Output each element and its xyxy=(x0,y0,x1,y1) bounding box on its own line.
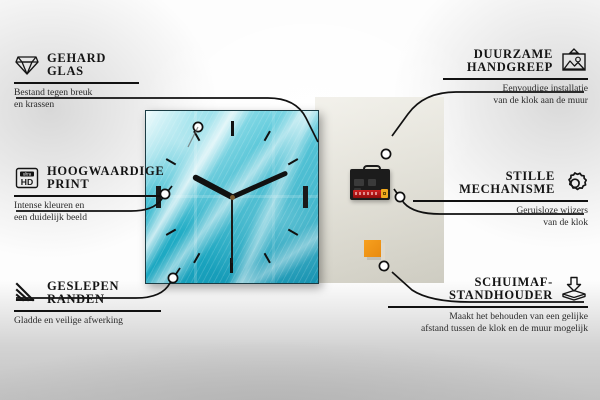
feature-divider xyxy=(443,78,588,80)
feature-subtitle: Gladde en veilige afwerking xyxy=(14,315,174,327)
feature-header: ultra HD HOOGWAARDIGE PRINT xyxy=(14,165,174,191)
feature-header: GEHARD GLAS xyxy=(14,52,164,78)
feature-title-line2: HANDGREEP xyxy=(467,61,553,74)
connector-dot-duurzame-handgreep xyxy=(381,149,390,158)
feature-header: GESLEPEN RANDEN xyxy=(14,280,174,306)
foam-spacer-icon xyxy=(560,276,588,302)
feature-header: DUURZAME HANDGREEP xyxy=(428,48,588,74)
feature-title-line2: STANDHOUDER xyxy=(449,289,553,302)
svg-text:HD: HD xyxy=(21,177,33,187)
feature-geslepen-randen[interactable]: GESLEPEN RANDEN Gladde en veilige afwerk… xyxy=(14,280,174,327)
bevelled-edges-icon xyxy=(14,281,40,305)
feature-divider xyxy=(388,306,588,308)
feature-title-line2: MECHANISME xyxy=(459,183,555,196)
feature-title: GESLEPEN RANDEN xyxy=(47,280,119,306)
feature-subtitle: Maakt het behouden van een gelijke afsta… xyxy=(388,311,588,336)
diamond-icon xyxy=(14,53,40,77)
feature-divider xyxy=(14,82,139,84)
connector-dot-schuimaf-standhouder xyxy=(379,261,388,270)
feature-title-line2: PRINT xyxy=(47,178,164,191)
feature-subtitle: Geruisloze wijzers van de klok xyxy=(413,205,588,230)
feature-title: HOOGWAARDIGE PRINT xyxy=(47,165,164,191)
feature-subtitle: Eenvoudige installatie van de klok aan d… xyxy=(428,83,588,108)
feature-title: GEHARD GLAS xyxy=(47,52,106,78)
picture-frame-hook-icon xyxy=(560,48,588,74)
feature-schuimaf-standhouder[interactable]: SCHUIMAF- STANDHOUDER Maakt het behouden… xyxy=(388,276,588,335)
feature-divider xyxy=(413,200,588,202)
gear-icon xyxy=(562,171,588,196)
feature-title-line2: GLAS xyxy=(47,65,106,78)
feature-title: SCHUIMAF- STANDHOUDER xyxy=(449,276,553,302)
feature-divider xyxy=(14,195,161,197)
feature-stille-mechanisme[interactable]: STILLE MECHANISME Geruisloze wijzers van… xyxy=(413,170,588,229)
feature-title-line2: RANDEN xyxy=(47,293,119,306)
connector-dot-stille-mechanisme xyxy=(395,192,404,201)
feature-subtitle: Bestand tegen breuk en krassen xyxy=(14,87,164,112)
feature-header: SCHUIMAF- STANDHOUDER xyxy=(388,276,588,302)
feature-duurzame-handgreep[interactable]: DUURZAME HANDGREEP Eenvoudige installati… xyxy=(428,48,588,107)
feature-title: STILLE MECHANISME xyxy=(459,170,555,196)
infographic-canvas: GEHARD GLAS Bestand tegen breuk en krass… xyxy=(0,0,600,400)
feature-gehard-glas[interactable]: GEHARD GLAS Bestand tegen breuk en krass… xyxy=(14,52,164,111)
ultra-hd-icon: ultra HD xyxy=(14,166,40,190)
feature-divider xyxy=(14,310,161,312)
feature-subtitle: Intense kleuren en een duidelijk beeld xyxy=(14,200,174,225)
connector-stub-gehard-glas xyxy=(188,127,198,147)
feature-title: DUURZAME HANDGREEP xyxy=(467,48,553,74)
feature-hoogwaardige-print[interactable]: ultra HD HOOGWAARDIGE PRINT Intense kleu… xyxy=(14,165,174,224)
feature-header: STILLE MECHANISME xyxy=(413,170,588,196)
svg-text:ultra: ultra xyxy=(23,172,32,177)
